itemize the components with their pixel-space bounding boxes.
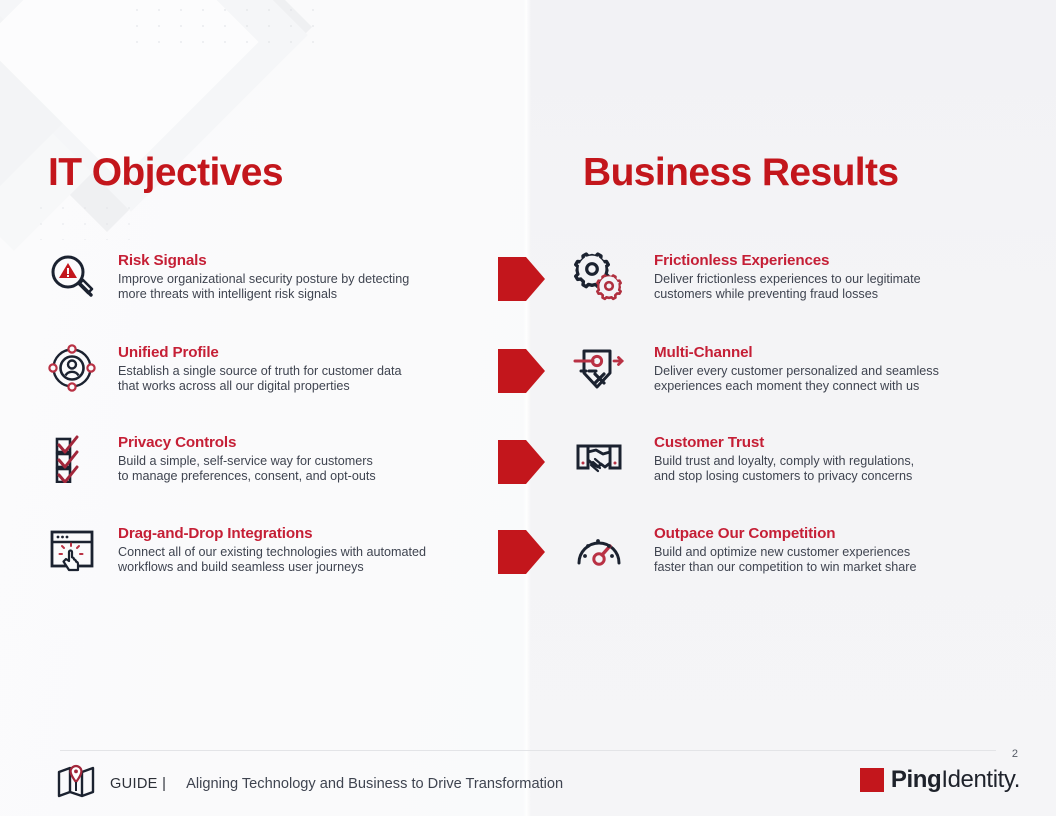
list-item-title: Drag-and-Drop Integrations [118,525,426,542]
list-item-description: Establish a single source of truth for c… [118,364,402,395]
list-item-text: Frictionless Experiences Deliver frictio… [654,248,921,303]
shield-channel-icon [568,340,630,396]
list-item-customer-trust: Customer Trust Build trust and loyalty, … [568,430,914,486]
list-item-title: Outpace Our Competition [654,525,917,542]
arrow-right-pentagon-icon [498,440,546,484]
list-item-description: Connect all of our existing technologies… [118,545,426,576]
list-item-title: Unified Profile [118,344,402,361]
brand-wordmark: PingIdentity. [891,766,1020,794]
list-item-description: Deliver frictionless experiences to our … [654,272,921,303]
footer-label: GUIDE | [110,776,166,792]
unified-profile-icon [44,340,100,396]
footer: GUIDE | Aligning Technology and Business… [56,762,563,806]
list-item-unified-profile: Unified Profile Establish a single sourc… [44,340,402,396]
drag-drop-window-icon [44,521,100,577]
brand-square-icon [860,768,884,792]
arrow-right-pentagon-icon [498,349,546,393]
list-item-multi-channel: Multi-Channel Deliver every customer per… [568,340,939,396]
list-item-text: Privacy Controls Build a simple, self-se… [118,430,376,485]
arrow-right-pentagon-icon [498,530,546,574]
list-item-description: Build and optimize new customer experien… [654,545,917,576]
dot-grid-decor-top [126,2,314,46]
privacy-checklist-icon [44,430,100,486]
dot-grid-decor-left [30,200,140,240]
list-item-outpace-our-competition: Outpace Our Competition Build and optimi… [568,521,917,577]
arrow-right-pentagon-icon [498,257,546,301]
list-item-risk-signals: Risk Signals Improve organizational secu… [44,248,409,304]
footer-divider [60,750,996,751]
list-item-text: Multi-Channel Deliver every customer per… [654,340,939,395]
list-item-privacy-controls: Privacy Controls Build a simple, self-se… [44,430,376,486]
list-item-text: Risk Signals Improve organizational secu… [118,248,409,303]
page-number: 2 [1012,748,1018,760]
brand-wordmark-identity: Identity [941,766,1013,793]
list-item-drag-and-drop-integrations: Drag-and-Drop Integrations Connect all o… [44,521,426,577]
list-item-title: Risk Signals [118,252,409,269]
list-item-text: Unified Profile Establish a single sourc… [118,340,402,395]
page-title-it-objectives: IT Objectives [48,151,283,195]
map-guide-icon [56,764,96,805]
list-item-description: Build trust and loyalty, comply with reg… [654,454,914,485]
ping-identity-logo: PingIdentity. [860,766,1020,794]
list-item-text: Customer Trust Build trust and loyalty, … [654,430,914,485]
speedometer-icon [568,521,630,577]
brand-wordmark-period: . [1014,766,1020,793]
panel-seam-decor [523,0,531,816]
brand-wordmark-ping: Ping [891,766,941,793]
list-item-description: Build a simple, self-service way for cus… [118,454,376,485]
risk-magnifier-icon [44,248,100,304]
list-item-text: Outpace Our Competition Build and optimi… [654,521,917,576]
list-item-description: Improve organizational security posture … [118,272,409,303]
handshake-icon [568,430,630,486]
footer-subtitle: Aligning Technology and Business to Driv… [186,776,563,792]
list-item-description: Deliver every customer personalized and … [654,364,939,395]
background-right-panel [527,0,1056,816]
list-item-title: Customer Trust [654,434,914,451]
slide-canvas: IT Objectives Business Results Risk Sign… [0,0,1056,816]
list-item-title: Privacy Controls [118,434,376,451]
list-item-title: Frictionless Experiences [654,252,921,269]
list-item-title: Multi-Channel [654,344,939,361]
page-title-business-results: Business Results [583,151,899,195]
list-item-text: Drag-and-Drop Integrations Connect all o… [118,521,426,576]
gears-icon [568,248,630,304]
list-item-frictionless-experiences: Frictionless Experiences Deliver frictio… [568,248,921,304]
